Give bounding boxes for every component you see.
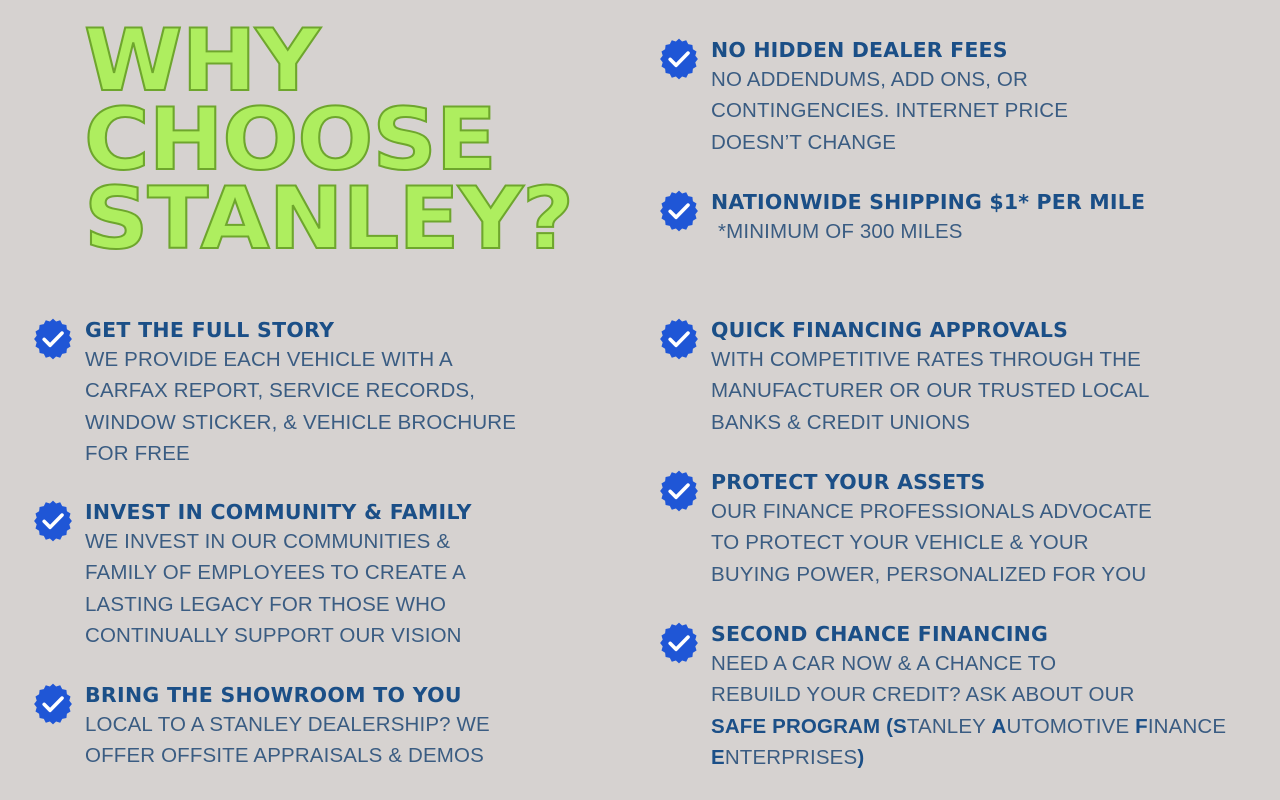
safe-acronym-plain-2: UTOMOTIVE xyxy=(1006,715,1135,738)
feature-title: NATIONWIDE SHIPPING $1* PER MILE xyxy=(711,189,1232,215)
feature-description: WE INVEST IN OUR COMMUNITIES & FAMILY OF… xyxy=(85,526,606,651)
feature-title: QUICK FINANCING APPROVALS xyxy=(711,317,1257,343)
feature-item-nationwide-shipping: NATIONWIDE SHIPPING $1* PER MILE *MINIMU… xyxy=(657,188,1232,247)
feature-text: SECOND CHANCE FINANCING NEED A CAR NOW &… xyxy=(711,620,1257,773)
feature-text: BRING THE SHOWROOM TO YOU LOCAL TO A STA… xyxy=(85,681,606,772)
safe-acronym-bold-2: A xyxy=(991,715,1006,738)
feature-item-no-hidden-dealer-fees: NO HIDDEN DEALER FEES NO ADDENDUMS, ADD … xyxy=(657,36,1257,158)
feature-item-quick-financing-approvals: QUICK FINANCING APPROVALS WITH COMPETITI… xyxy=(657,316,1257,438)
feature-item-bring-the-showroom-to-you: BRING THE SHOWROOM TO YOU LOCAL TO A STA… xyxy=(31,681,606,772)
feature-item-protect-your-assets: PROTECT YOUR ASSETS OUR FINANCE PROFESSI… xyxy=(657,468,1257,590)
check-badge-icon xyxy=(31,317,75,361)
feature-text: QUICK FINANCING APPROVALS WITH COMPETITI… xyxy=(711,316,1257,438)
feature-title: PROTECT YOUR ASSETS xyxy=(711,469,1257,495)
desc-line-2: REBUILD YOUR CREDIT? ASK ABOUT OUR xyxy=(711,683,1135,706)
desc-line-1: NEED A CAR NOW & A CHANCE TO xyxy=(711,652,1056,675)
feature-text: INVEST IN COMMUNITY & FAMILY WE INVEST I… xyxy=(85,498,606,651)
check-badge-icon xyxy=(657,189,701,233)
safe-acronym-bold-4: E xyxy=(711,746,725,769)
check-badge-icon xyxy=(31,499,75,543)
feature-title: NO HIDDEN DEALER FEES xyxy=(711,37,1257,63)
feature-item-get-the-full-story: GET THE FULL STORY WE PROVIDE EACH VEHIC… xyxy=(31,316,606,469)
safe-acronym-plain-1: TANLEY xyxy=(907,715,992,738)
feature-description: NO ADDENDUMS, ADD ONS, OR CONTINGENCIES.… xyxy=(711,64,1257,157)
feature-description: WITH COMPETITIVE RATES THROUGH THE MANUF… xyxy=(711,344,1257,437)
check-badge-icon xyxy=(657,37,701,81)
feature-description: *MINIMUM OF 300 MILES xyxy=(711,216,1232,247)
feature-text: GET THE FULL STORY WE PROVIDE EACH VEHIC… xyxy=(85,316,606,469)
safe-acronym-bold-3: F xyxy=(1135,715,1148,738)
safe-acronym-bold-1: SAFE PROGRAM (S xyxy=(711,715,907,738)
check-badge-icon xyxy=(657,621,701,665)
check-badge-icon xyxy=(657,317,701,361)
feature-title: GET THE FULL STORY xyxy=(85,317,606,343)
feature-item-second-chance-financing: SECOND CHANCE FINANCING NEED A CAR NOW &… xyxy=(657,620,1257,773)
check-badge-icon xyxy=(31,682,75,726)
feature-title: INVEST IN COMMUNITY & FAMILY xyxy=(85,499,606,525)
feature-text: PROTECT YOUR ASSETS OUR FINANCE PROFESSI… xyxy=(711,468,1257,590)
feature-title: BRING THE SHOWROOM TO YOU xyxy=(85,682,606,708)
safe-acronym-plain-3: INANCE xyxy=(1148,715,1226,738)
safe-acronym-plain-4: NTERPRISES xyxy=(725,746,858,769)
why-choose-stanley-poster: WHY CHOOSE STANLEY? GET THE FULL STORY W… xyxy=(0,0,1280,800)
feature-title: SECOND CHANCE FINANCING xyxy=(711,621,1257,647)
feature-description: OUR FINANCE PROFESSIONALS ADVOCATE TO PR… xyxy=(711,496,1257,589)
feature-text: NO HIDDEN DEALER FEES NO ADDENDUMS, ADD … xyxy=(711,36,1257,158)
feature-description: NEED A CAR NOW & A CHANCE TOREBUILD YOUR… xyxy=(711,648,1257,773)
check-badge-icon xyxy=(657,469,701,513)
page-title: WHY CHOOSE STANLEY? xyxy=(84,22,646,259)
feature-description: LOCAL TO A STANLEY DEALERSHIP? WE OFFER … xyxy=(85,709,606,771)
feature-item-invest-in-community-family: INVEST IN COMMUNITY & FAMILY WE INVEST I… xyxy=(31,498,606,651)
safe-acronym-bold-5: ) xyxy=(857,746,864,769)
feature-text: NATIONWIDE SHIPPING $1* PER MILE *MINIMU… xyxy=(711,188,1232,247)
feature-description: WE PROVIDE EACH VEHICLE WITH A CARFAX RE… xyxy=(85,344,606,469)
left-column: WHY CHOOSE STANLEY? GET THE FULL STORY W… xyxy=(0,0,640,800)
